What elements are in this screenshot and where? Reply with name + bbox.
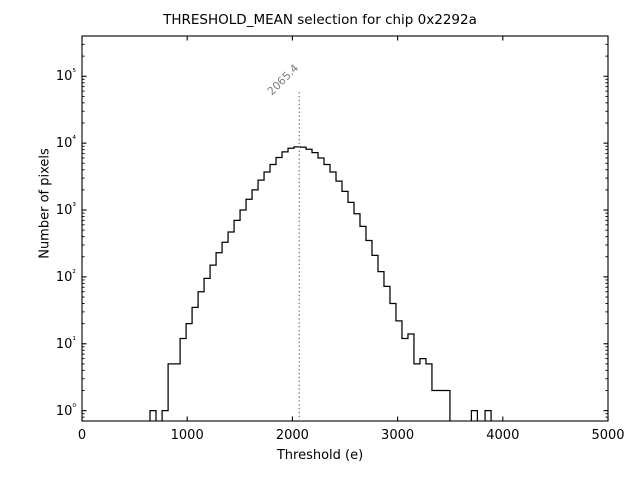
x-tick-label: 0 [78,428,86,443]
x-tick-label: 2000 [276,428,309,443]
plot-area [0,0,640,480]
x-tick-label: 4000 [486,428,519,443]
y-tick-label: 10³ [34,202,76,218]
axes-frame [82,36,608,421]
y-tick-label: 10⁵ [34,68,76,84]
figure-canvas: THRESHOLD_MEAN selection for chip 0x2292… [0,0,640,480]
x-tick-label: 3000 [381,428,414,443]
y-tick-label: 10² [34,269,76,285]
y-tick-label: 10⁴ [34,135,76,151]
histogram-step-line [150,147,491,421]
y-tick-label: 10¹ [34,336,76,352]
y-tick-label: 10⁰ [34,402,76,418]
x-tick-label: 5000 [591,428,624,443]
x-tick-label: 1000 [171,428,204,443]
